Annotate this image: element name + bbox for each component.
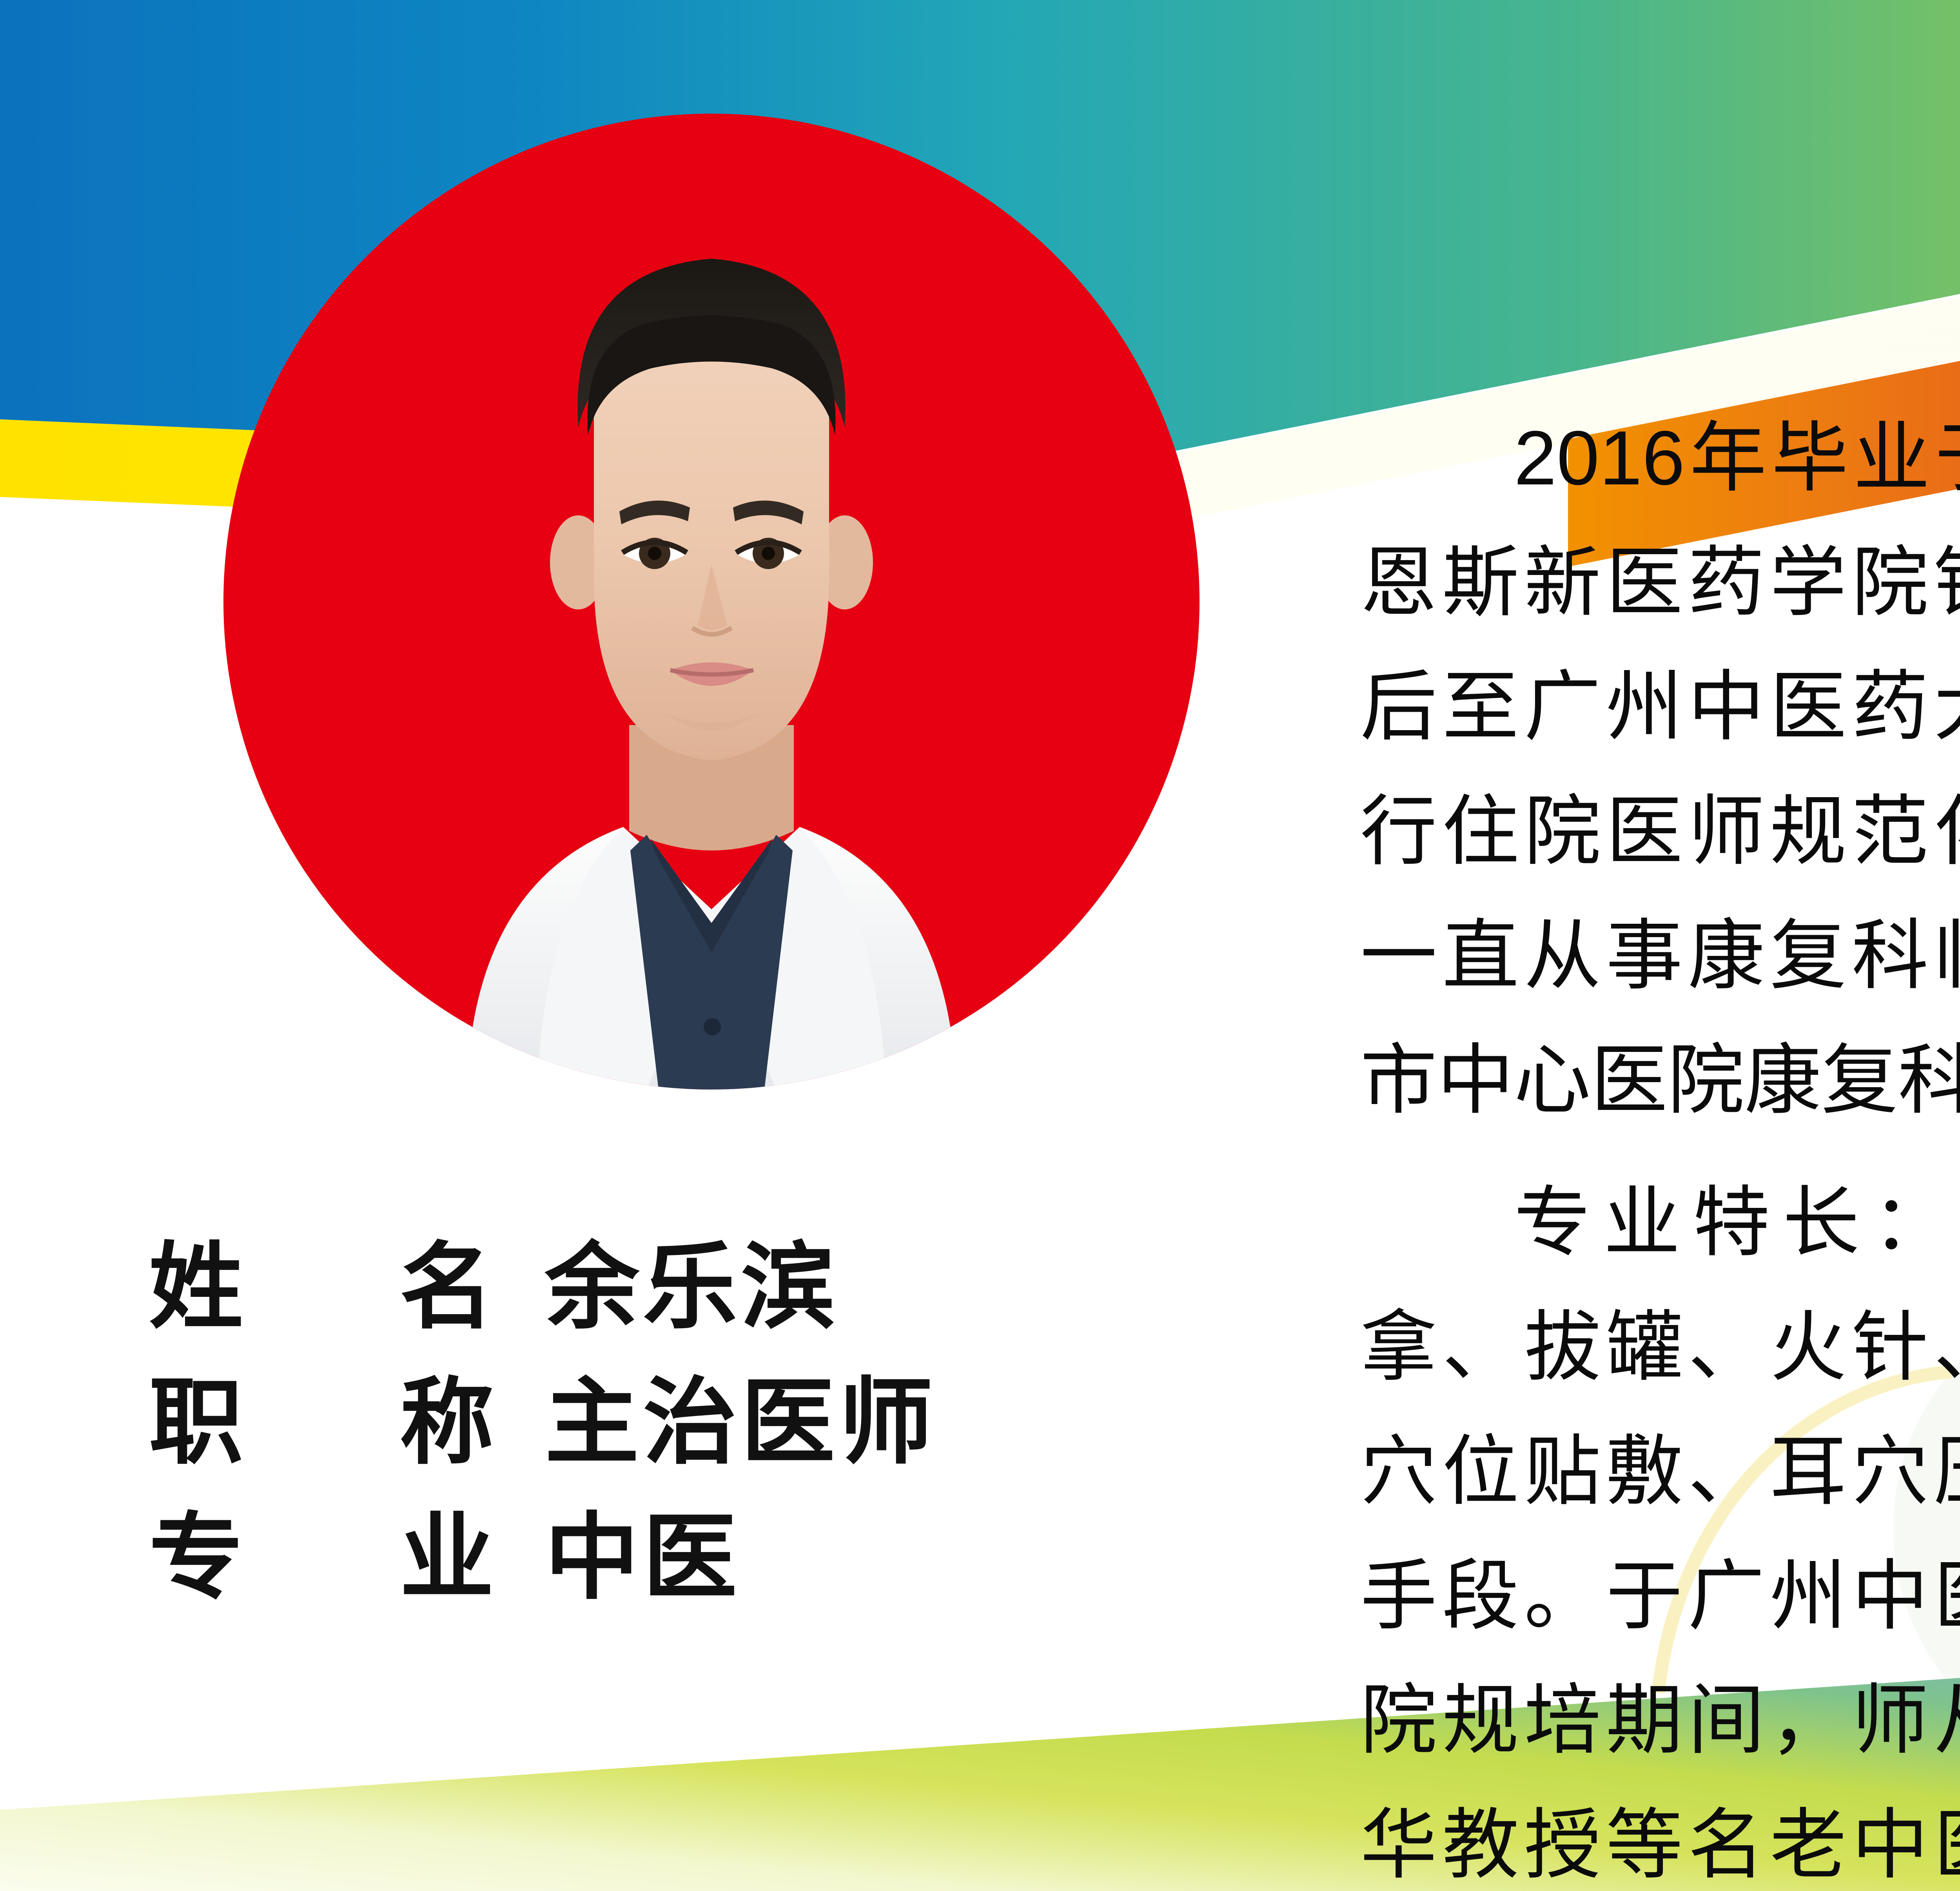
bio-paragraph-education: 2016年毕业于广西中医药大学赛恩斯新医药学院针灸推拿专业，毕业后至广州中医药大… bbox=[1360, 396, 1960, 1142]
info-label-name: 姓 名 bbox=[149, 1211, 494, 1347]
info-row-specialty: 专 业 中医 bbox=[149, 1481, 1207, 1617]
info-value-specialty: 中医 bbox=[545, 1481, 741, 1617]
bio-paragraph-specialty: 专业特长：熟练掌握针灸、推拿、拔罐、火针、埋线、药线点灸、穴位贴敷、耳穴压豆等中… bbox=[1360, 1160, 1960, 1891]
doctor-info-list: 姓 名 余乐滨 职 称 主治医师 专 业 中医 bbox=[149, 1211, 1207, 1617]
doctor-profile-card: 姓 名 余乐滨 职 称 主治医师 专 业 中医 2016年毕业于广西中医药大学赛… bbox=[0, 0, 1960, 1891]
info-value-title: 主治医师 bbox=[545, 1346, 937, 1482]
info-label-specialty: 专 业 bbox=[149, 1481, 494, 1617]
info-value-name: 余乐滨 bbox=[545, 1211, 839, 1347]
portrait-illustration bbox=[223, 114, 1200, 1090]
info-label-title: 职 称 bbox=[149, 1346, 494, 1482]
doctor-biography: 2016年毕业于广西中医药大学赛恩斯新医药学院针灸推拿专业，毕业后至广州中医药大… bbox=[1360, 396, 1960, 1891]
doctor-portrait bbox=[223, 114, 1200, 1090]
info-row-title: 职 称 主治医师 bbox=[149, 1346, 1207, 1481]
info-row-name: 姓 名 余乐滨 bbox=[149, 1211, 1207, 1346]
